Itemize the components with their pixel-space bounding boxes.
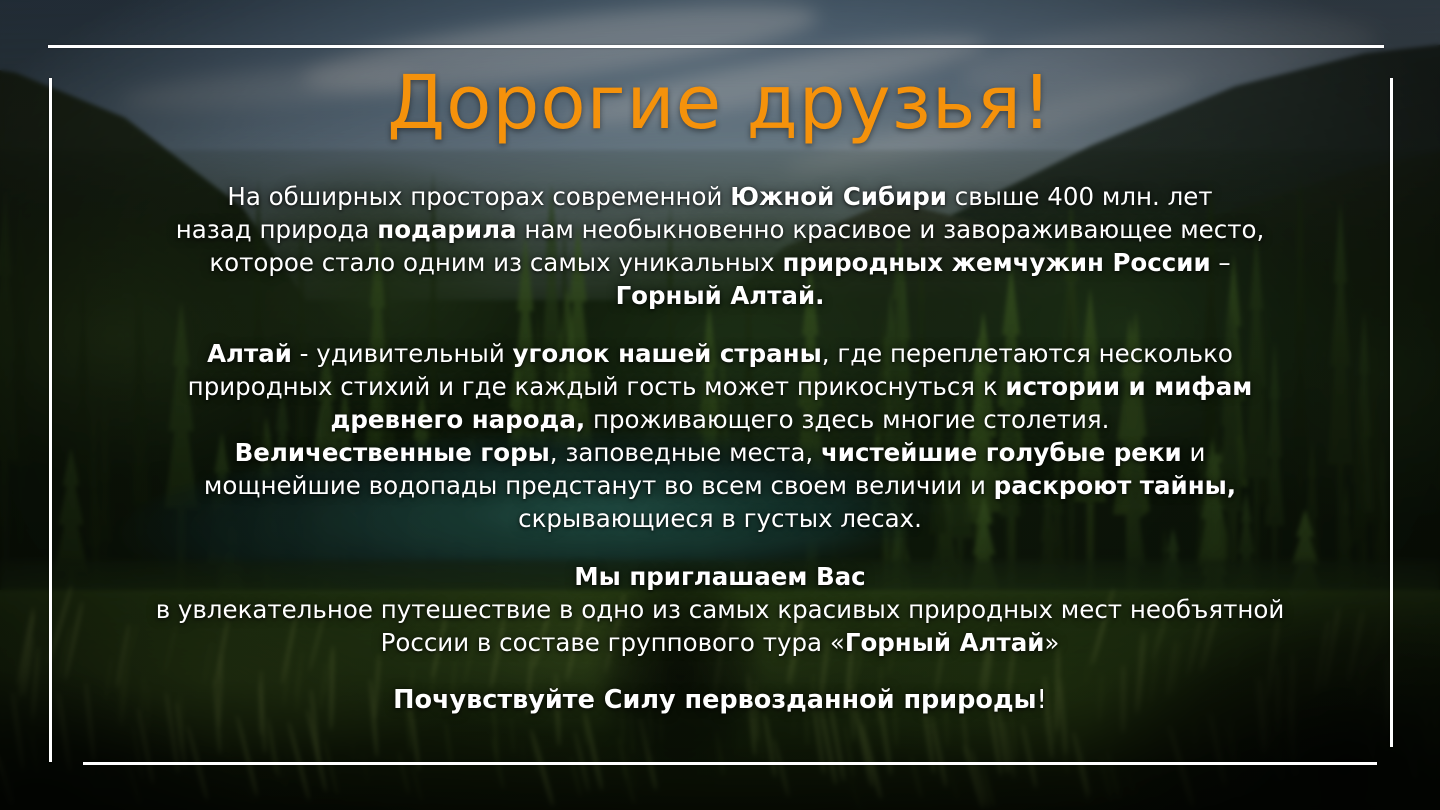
paragraph-closing: Почувствуйте Силу первозданной природы!: [120, 684, 1320, 717]
slide-title: Дорогие друзья!: [0, 66, 1440, 140]
paragraph-invitation: Мы приглашаем Васв увлекательное путешес…: [120, 560, 1320, 659]
slide-body: На обширных просторах современной Южной …: [120, 180, 1320, 717]
presentation-slide: Дорогие друзья! На обширных просторах со…: [0, 0, 1440, 810]
paragraph-intro: На обширных просторах современной Южной …: [120, 180, 1320, 312]
paragraph-about: Алтай - удивительный уголок нашей страны…: [120, 337, 1320, 535]
slide-content: Дорогие друзья! На обширных просторах со…: [0, 0, 1440, 810]
